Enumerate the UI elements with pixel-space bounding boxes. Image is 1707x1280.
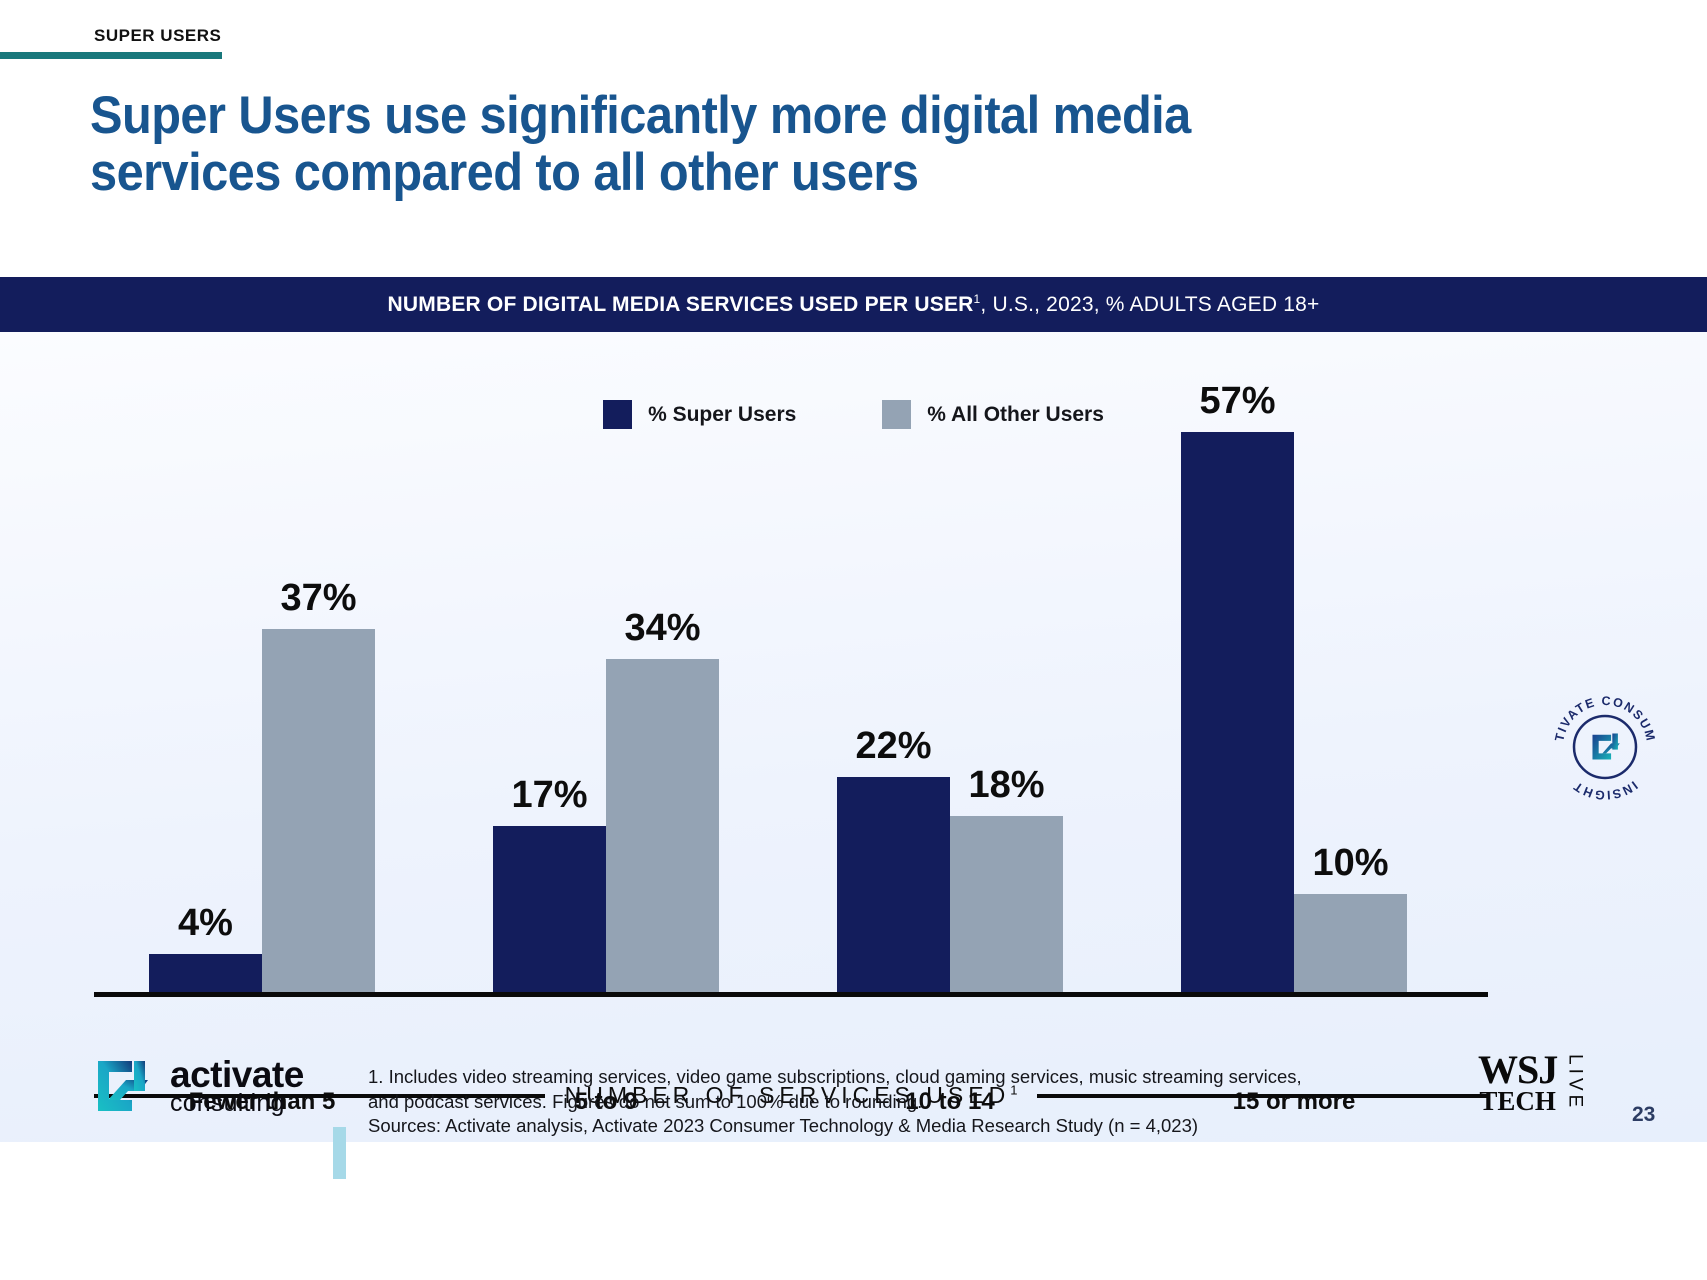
x-axis-line xyxy=(94,992,1488,997)
activate-word-consulting: consulting xyxy=(170,1092,304,1116)
bar-group-fewer-than-5: 4% 37% xyxy=(149,412,375,993)
activate-consumer-insight-badge-icon: ACTIVATE CONSUMER INSIGHT xyxy=(1545,687,1665,807)
bar-value-label: 22% xyxy=(855,725,931,768)
wsj-wordmark: WSJ TECH xyxy=(1478,1052,1557,1114)
activate-mark-icon xyxy=(94,1055,156,1117)
bar-group-5-to-9: 17% 34% xyxy=(493,412,719,993)
chart-title-text: NUMBER OF DIGITAL MEDIA SERVICES USED PE… xyxy=(388,292,1320,317)
footnote-line-1: 1. Includes video streaming services, vi… xyxy=(368,1065,1318,1090)
bar-super-users[interactable] xyxy=(493,826,606,993)
eyebrow-label: SUPER USERS xyxy=(94,26,221,46)
wsj-tech-live-logo: WSJ TECH LIVE xyxy=(1478,1052,1585,1114)
svg-text:INSIGHT: INSIGHT xyxy=(1570,778,1640,802)
activate-wordmark: activate consulting xyxy=(170,1057,304,1116)
page-title: Super Users use significantly more digit… xyxy=(90,88,1286,201)
bar-wrap-all-other-users-4[interactable]: 10% xyxy=(1294,412,1407,993)
bar-all-other-users[interactable] xyxy=(262,629,375,993)
bar-group-15-or-more: 57% 10% xyxy=(1181,412,1407,993)
bar-value-label: 57% xyxy=(1199,380,1275,423)
bar-wrap-super-users-2[interactable]: 17% xyxy=(493,412,606,993)
chart-title-banner: NUMBER OF DIGITAL MEDIA SERVICES USED PE… xyxy=(0,277,1707,332)
bar-all-other-users[interactable] xyxy=(606,659,719,993)
chart-title-bold: NUMBER OF DIGITAL MEDIA SERVICES USED PE… xyxy=(388,293,974,316)
accent-bar xyxy=(333,1127,346,1179)
wsj-word-top: WSJ xyxy=(1478,1052,1557,1089)
bar-value-label: 10% xyxy=(1312,842,1388,885)
bar-value-label: 4% xyxy=(178,902,233,945)
chart-panel: % Super Users % All Other Users xyxy=(0,332,1707,1142)
bar-wrap-all-other-users-1[interactable]: 37% xyxy=(262,412,375,993)
slide: SUPER USERS Super Users use significantl… xyxy=(0,0,1707,1280)
wsj-word-live: LIVE xyxy=(1563,1054,1585,1111)
bar-value-label: 18% xyxy=(968,764,1044,807)
bar-wrap-super-users-4[interactable]: 57% xyxy=(1181,412,1294,993)
bar-super-users[interactable] xyxy=(1181,432,1294,993)
footnote-line-2: and podcast services. Figures do not sum… xyxy=(368,1090,1318,1115)
bar-value-label: 17% xyxy=(511,774,587,817)
bar-chart-plot: 4% 37% Fewer than 5 17% 34% xyxy=(94,412,1494,993)
bar-wrap-super-users-1[interactable]: 4% xyxy=(149,412,262,993)
footnotes: 1. Includes video streaming services, vi… xyxy=(368,1065,1318,1139)
bar-all-other-users[interactable] xyxy=(950,816,1063,993)
bar-super-users[interactable] xyxy=(837,777,950,993)
bar-wrap-all-other-users-3[interactable]: 18% xyxy=(950,412,1063,993)
bar-value-label: 37% xyxy=(280,577,356,620)
eyebrow-rule xyxy=(0,52,222,59)
bar-super-users[interactable] xyxy=(149,954,262,993)
bar-value-label: 34% xyxy=(624,607,700,650)
bar-group-10-to-14: 22% 18% xyxy=(837,412,1063,993)
wsj-word-bottom: TECH xyxy=(1479,1089,1556,1114)
chart-title-regular: , U.S., 2023, % ADULTS AGED 18+ xyxy=(980,293,1319,316)
activate-word-activate: activate xyxy=(170,1057,304,1092)
footnote-line-3: Sources: Activate analysis, Activate 202… xyxy=(368,1114,1318,1139)
bar-wrap-super-users-3[interactable]: 22% xyxy=(837,412,950,993)
bar-wrap-all-other-users-2[interactable]: 34% xyxy=(606,412,719,993)
bar-all-other-users[interactable] xyxy=(1294,894,1407,993)
page-number: 23 xyxy=(1632,1103,1655,1127)
activate-consulting-logo: activate consulting xyxy=(94,1055,304,1117)
